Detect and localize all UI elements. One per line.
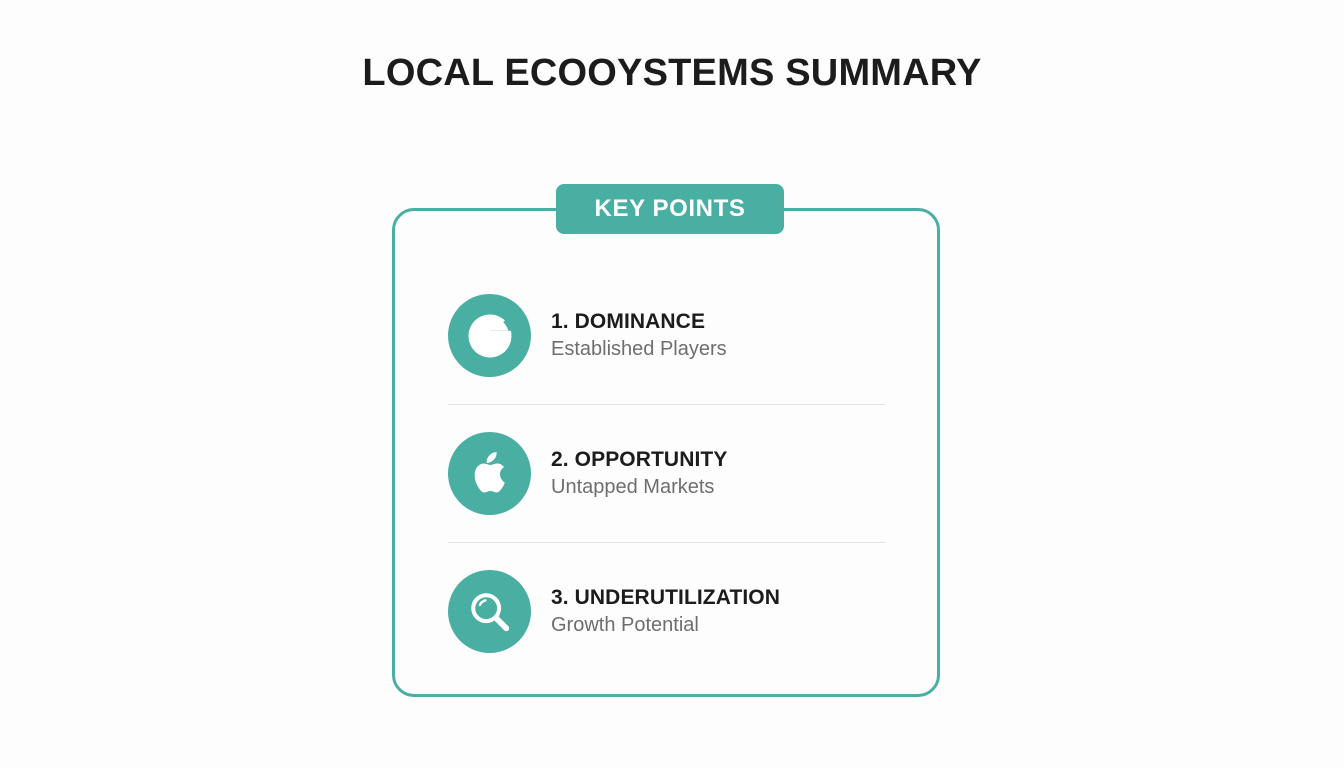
list-divider — [448, 542, 885, 543]
list-item-subtitle: Established Players — [551, 337, 727, 362]
list-item-title: 3. UNDERUTILIZATION — [551, 585, 780, 610]
list-item-subtitle: Untapped Markets — [551, 475, 727, 500]
list-item-text: 2. OPPORTUNITY Untapped Markets — [551, 447, 727, 500]
key-points-badge: KEY POINTS — [556, 184, 784, 234]
list-item[interactable]: 2. OPPORTUNITY Untapped Markets — [448, 424, 888, 523]
page-title: LOCAL ECOOYSTEMS SUMMARY — [0, 50, 1344, 96]
magnifier-icon — [448, 570, 531, 653]
list-item-title: 1. DOMINANCE — [551, 309, 727, 334]
list-item-title: 2. OPPORTUNITY — [551, 447, 727, 472]
key-points-list: 1. DOMINANCE Established Players 2. OPPO… — [448, 286, 888, 661]
list-item-subtitle: Growth Potential — [551, 613, 780, 638]
list-item[interactable]: 1. DOMINANCE Established Players — [448, 286, 888, 385]
google-g-icon — [448, 294, 531, 377]
slide-canvas: LOCAL ECOOYSTEMS SUMMARY KEY POINTS 1. D… — [0, 0, 1344, 768]
key-points-badge-label: KEY POINTS — [595, 195, 746, 223]
apple-logo-icon — [448, 432, 531, 515]
list-item-text: 1. DOMINANCE Established Players — [551, 309, 727, 362]
list-item-text: 3. UNDERUTILIZATION Growth Potential — [551, 585, 780, 638]
list-divider — [448, 404, 885, 405]
list-item[interactable]: 3. UNDERUTILIZATION Growth Potential — [448, 562, 888, 661]
